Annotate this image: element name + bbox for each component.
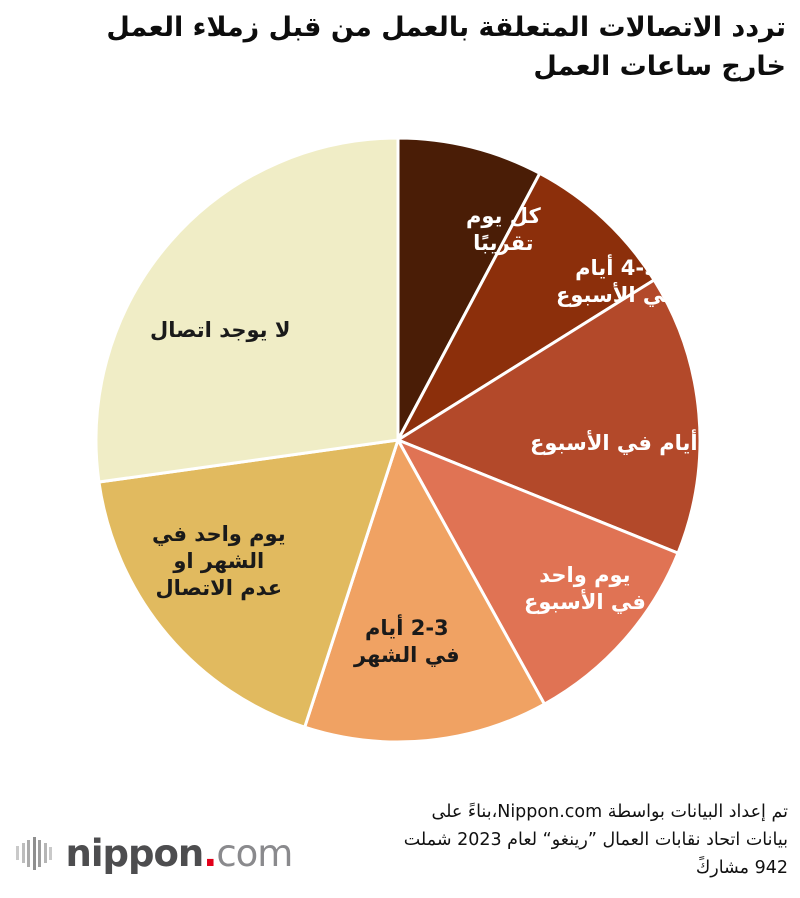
- pie-chart: كل يوم تقريبًا4-5 أيام في الأسبوع2-3 أيا…: [0, 0, 800, 790]
- pie-chart-svg: [0, 0, 800, 790]
- logo-name: nippon: [66, 835, 204, 872]
- logo-tld: com: [216, 835, 292, 872]
- source-note-line-3: 942 مشاركً: [248, 854, 788, 882]
- logo-wordmark: nippon.com: [66, 835, 293, 872]
- source-note-line-1: تم إعداد البيانات بواسطة Nippon.com،بناء…: [248, 798, 788, 826]
- nippon-logo[interactable]: nippon.com: [16, 830, 292, 876]
- waveform-bars-icon: [16, 836, 55, 870]
- chart-page: تردد الاتصالات المتعلقة بالعمل من قبل زم…: [0, 0, 800, 898]
- pie-slice[interactable]: [96, 138, 398, 482]
- source-note: تم إعداد البيانات بواسطة Nippon.com،بناء…: [248, 798, 788, 882]
- logo-dot: .: [203, 835, 216, 872]
- source-note-line-2: بيانات اتحاد نقابات العمال ”رينغو“ لعام …: [248, 826, 788, 854]
